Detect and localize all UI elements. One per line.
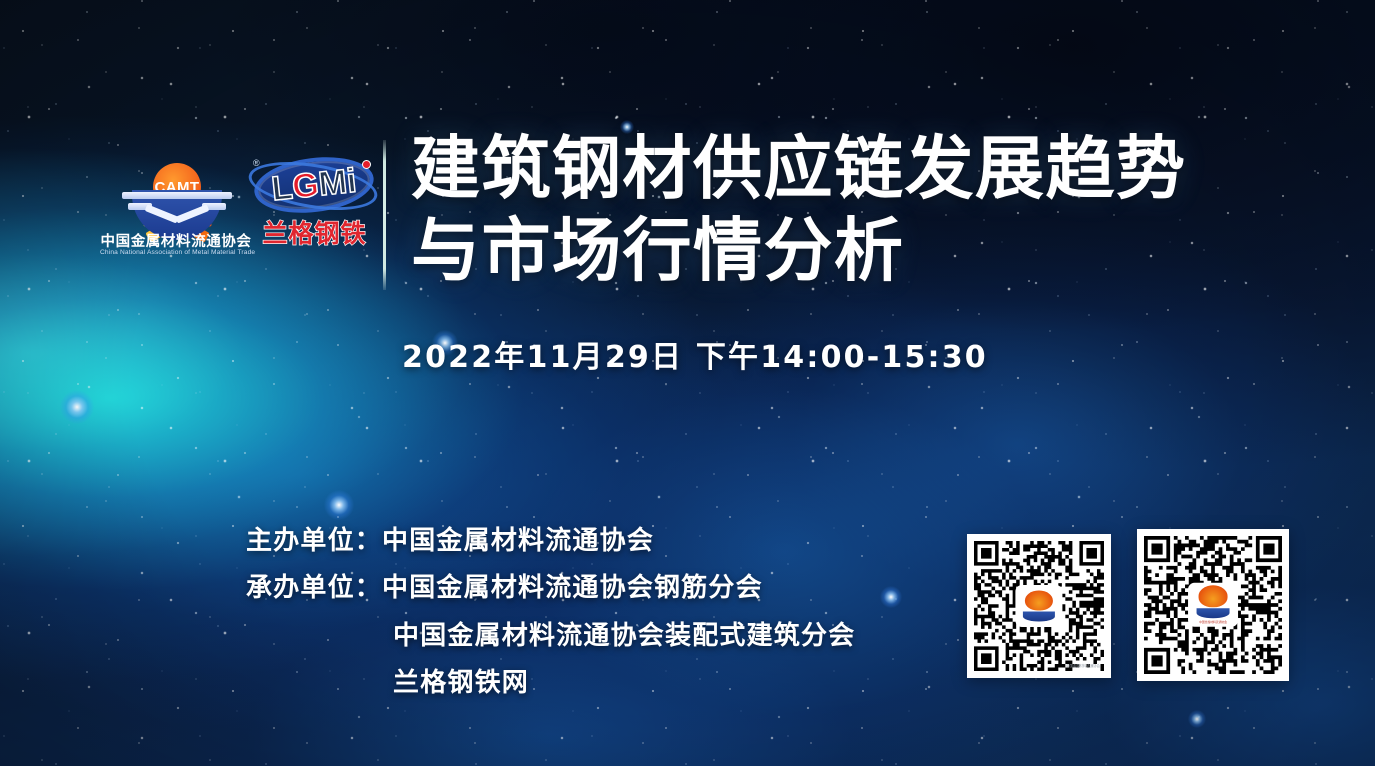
page-title: 建筑钢材供应链发展趋势 与市场行情分析 xyxy=(411,128,1241,292)
camt-logo: CAMT ® 中国金属材料流通协会 China National Associa… xyxy=(100,150,252,268)
qr-code-left[interactable]: 中国金属材料流通协会 xyxy=(967,534,1111,678)
organizer-value-1: 中国金属材料流通协会 xyxy=(382,526,654,556)
lgmi-letter-m: M xyxy=(317,165,349,202)
wing-icon xyxy=(1023,612,1055,622)
camt-wing-icon xyxy=(122,190,232,228)
camt-chinese-name: 中国金属材料流通协会 xyxy=(100,230,252,251)
camt-english-name: China National Association of Metal Mate… xyxy=(100,249,252,256)
organizer-value-2: 中国金属材料流通协会钢筋分会 xyxy=(382,573,763,603)
lgmi-letter-g: G xyxy=(291,168,321,205)
title-line-1: 建筑钢材供应链发展趋势 xyxy=(411,128,1241,210)
lgmi-dot-icon xyxy=(362,160,371,169)
qr-right-logo-caption: 中国金属材料流通协会 xyxy=(1199,620,1227,625)
lgmi-chinese-name: 兰格钢铁 xyxy=(252,214,377,250)
organizer-list: 主办单位：中国金属材料流通协会 承办单位：中国金属材料流通协会钢筋分会 中国金属… xyxy=(246,518,946,707)
wing-icon xyxy=(1196,608,1230,619)
organizer-value-4: 兰格钢铁网 xyxy=(393,668,529,698)
organizer-label-2: 承办单位： xyxy=(246,573,382,603)
logo-group: CAMT ® 中国金属材料流通协会 China National Associa… xyxy=(92,150,377,268)
camt-emblem-icon: CAMT ® xyxy=(122,150,232,228)
organizer-value-3: 中国金属材料流通协会装配式建筑分会 xyxy=(393,621,855,651)
qr-right-center-logo: 中国金属材料流通协会 xyxy=(1190,584,1237,625)
sunburst-icon xyxy=(1025,590,1052,610)
organizer-row-2: 承办单位：中国金属材料流通协会钢筋分会 xyxy=(246,565,946,612)
sunburst-icon xyxy=(1198,585,1227,607)
title-line-2: 与市场行情分析 xyxy=(411,210,1241,292)
qr-left-center-logo xyxy=(1017,587,1061,626)
qr-code-left-canvas: 中国金属材料流通协会 xyxy=(974,541,1104,671)
organizer-label-1: 主办单位： xyxy=(246,526,382,556)
lgmi-logo: L G M i 兰格钢铁 xyxy=(252,154,377,264)
title-divider xyxy=(383,140,386,290)
event-poster: CAMT ® 中国金属材料流通协会 China National Associa… xyxy=(0,0,1375,766)
organizer-row-4: 兰格钢铁网 xyxy=(246,660,946,707)
qr-code-right[interactable]: 中国金属材料流通协会 xyxy=(1137,529,1289,681)
organizer-row-3: 中国金属材料流通协会装配式建筑分会 xyxy=(246,613,946,660)
qr-left-watermark: 中国金属材料流通协会 xyxy=(1066,663,1100,668)
event-datetime: 2022年11月29日 下午14:00-15:30 xyxy=(402,332,988,376)
organizer-row-1: 主办单位：中国金属材料流通协会 xyxy=(246,518,946,565)
qr-code-right-canvas: 中国金属材料流通协会 xyxy=(1144,536,1282,674)
